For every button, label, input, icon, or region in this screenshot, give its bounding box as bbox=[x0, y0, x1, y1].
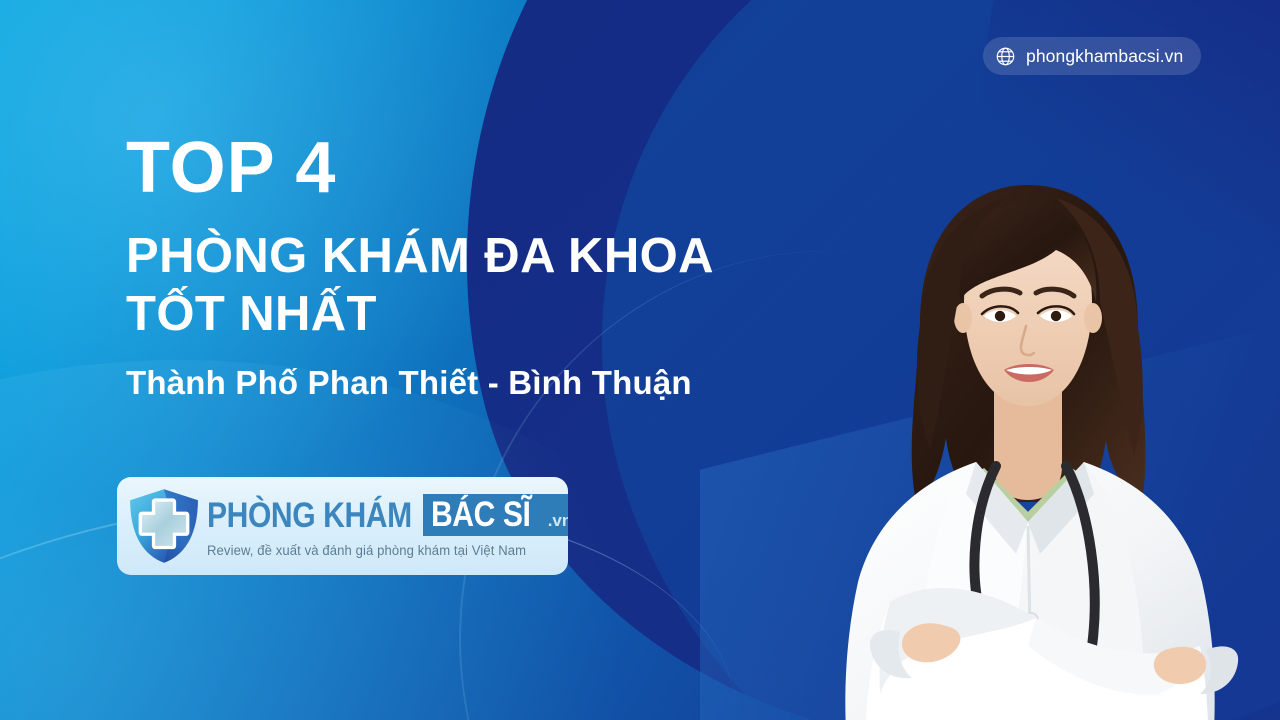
logo-tagline: Review, đề xuất và đánh giá phòng khám t… bbox=[207, 543, 568, 558]
website-url-pill[interactable]: phongkhambacsi.vn bbox=[983, 37, 1201, 75]
main-title-line-1: PHÒNG KHÁM ĐA KHOA bbox=[126, 229, 714, 283]
shield-cross-icon bbox=[127, 487, 201, 565]
globe-icon bbox=[995, 46, 1016, 67]
female-doctor-photo bbox=[770, 150, 1280, 720]
logo-wordmark-block: PHÒNG KHÁM BÁC SĨ .vn Review, đề xuất và… bbox=[207, 494, 568, 558]
rank-title: TOP 4 bbox=[126, 134, 714, 202]
banner-canvas: phongkhambacsi.vn TOP 4 PHÒNG KHÁM ĐA KH… bbox=[0, 0, 1280, 720]
website-url-text: phongkhambacsi.vn bbox=[1026, 46, 1183, 67]
logo-word-phongkham: PHÒNG KHÁM bbox=[207, 498, 412, 533]
logo-word-tld: .vn bbox=[548, 512, 568, 529]
brand-logo-card[interactable]: PHÒNG KHÁM BÁC SĨ .vn Review, đề xuất và… bbox=[117, 477, 568, 575]
location-subtitle: Thành Phố Phan Thiết - Bình Thuận bbox=[126, 363, 714, 403]
headline-block: TOP 4 PHÒNG KHÁM ĐA KHOA TỐT NHẤT Thành … bbox=[126, 134, 714, 403]
logo-word-bacsi: BÁC SĨ bbox=[431, 497, 530, 532]
main-title: PHÒNG KHÁM ĐA KHOA TỐT NHẤT bbox=[126, 228, 714, 343]
main-title-line-2: TỐT NHẤT bbox=[126, 286, 714, 343]
logo-wordmark: PHÒNG KHÁM BÁC SĨ .vn bbox=[207, 494, 568, 536]
logo-badge-bacsi: BÁC SĨ .vn bbox=[423, 494, 568, 536]
